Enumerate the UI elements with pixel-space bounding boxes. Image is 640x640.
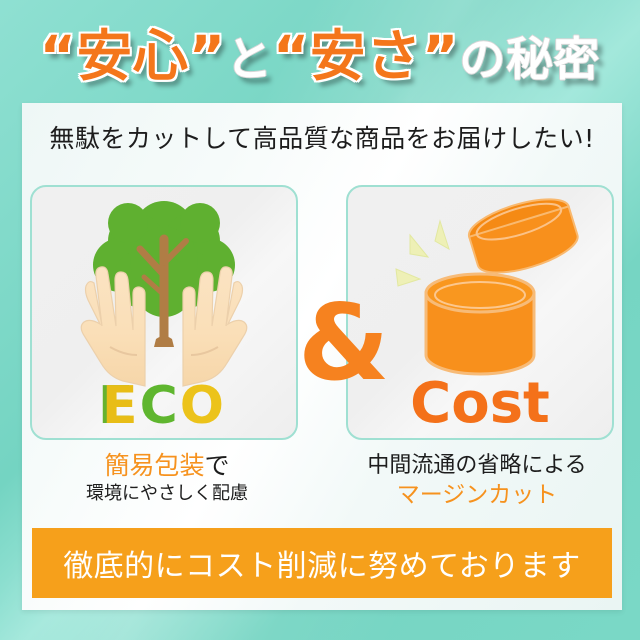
panel-subtitle: 無駄をカットして高品質な商品をお届けしたい! — [22, 119, 622, 155]
eco-letter-o: O — [180, 376, 226, 436]
content-panel: 無駄をカットして高品質な商品をお届けしたい! — [22, 103, 622, 610]
caption-cost-line2: マージンカット — [332, 481, 622, 509]
headline-quote-close-1: ” — [189, 24, 226, 88]
page-title: “安心”と“安さ”の秘密 — [0, 14, 640, 98]
card-captions: 簡易包装で 環境にやさしく配慮 中間流通の省略による マージンカット — [22, 451, 622, 525]
tree-base — [154, 336, 174, 347]
promotional-poster: “安心”と“安さ”の秘密 無駄をカットして高品質な商品をお届けしたい! — [0, 0, 640, 640]
caption-eco-line1-highlight: 簡易包装 — [104, 451, 204, 480]
headline-tail: の秘密 — [459, 32, 600, 86]
headline-quote-open-2: “ — [273, 24, 310, 88]
hands-holding-tree-icon — [32, 187, 296, 387]
headline-quote-open-1: “ — [40, 24, 77, 88]
bottom-banner: 徹底的にコスト削減に努めております — [32, 528, 612, 598]
card-eco[interactable]: ECO — [30, 185, 298, 440]
sparkle-lines — [396, 221, 449, 286]
headline-word-yasusa: 安さ — [310, 24, 422, 88]
caption-eco-line2: 環境にやさしく配慮 — [22, 481, 312, 507]
card-eco-label: ECO — [32, 380, 296, 432]
caption-cost-line1: 中間流通の省略による — [332, 451, 622, 481]
headline-quote-close-2: ” — [422, 24, 459, 88]
caption-eco: 簡易包装で 環境にやさしく配慮 — [22, 451, 312, 507]
cost-word: Cost — [410, 371, 550, 436]
eco-letter-c: C — [140, 376, 180, 436]
bottom-banner-text: 徹底的にコスト削減に努めております — [63, 541, 581, 585]
caption-eco-line1: 簡易包装で — [22, 451, 312, 481]
container-lid — [464, 190, 582, 282]
ampersand-separator: & — [298, 291, 358, 396]
headline-connector: と — [226, 32, 273, 86]
container-body — [426, 274, 534, 374]
caption-cost: 中間流通の省略による マージンカット — [332, 451, 622, 509]
headline-word-anshin: 安心 — [77, 24, 189, 88]
eco-letter-e: E — [102, 376, 140, 436]
caption-eco-line1-tail: で — [205, 451, 230, 480]
